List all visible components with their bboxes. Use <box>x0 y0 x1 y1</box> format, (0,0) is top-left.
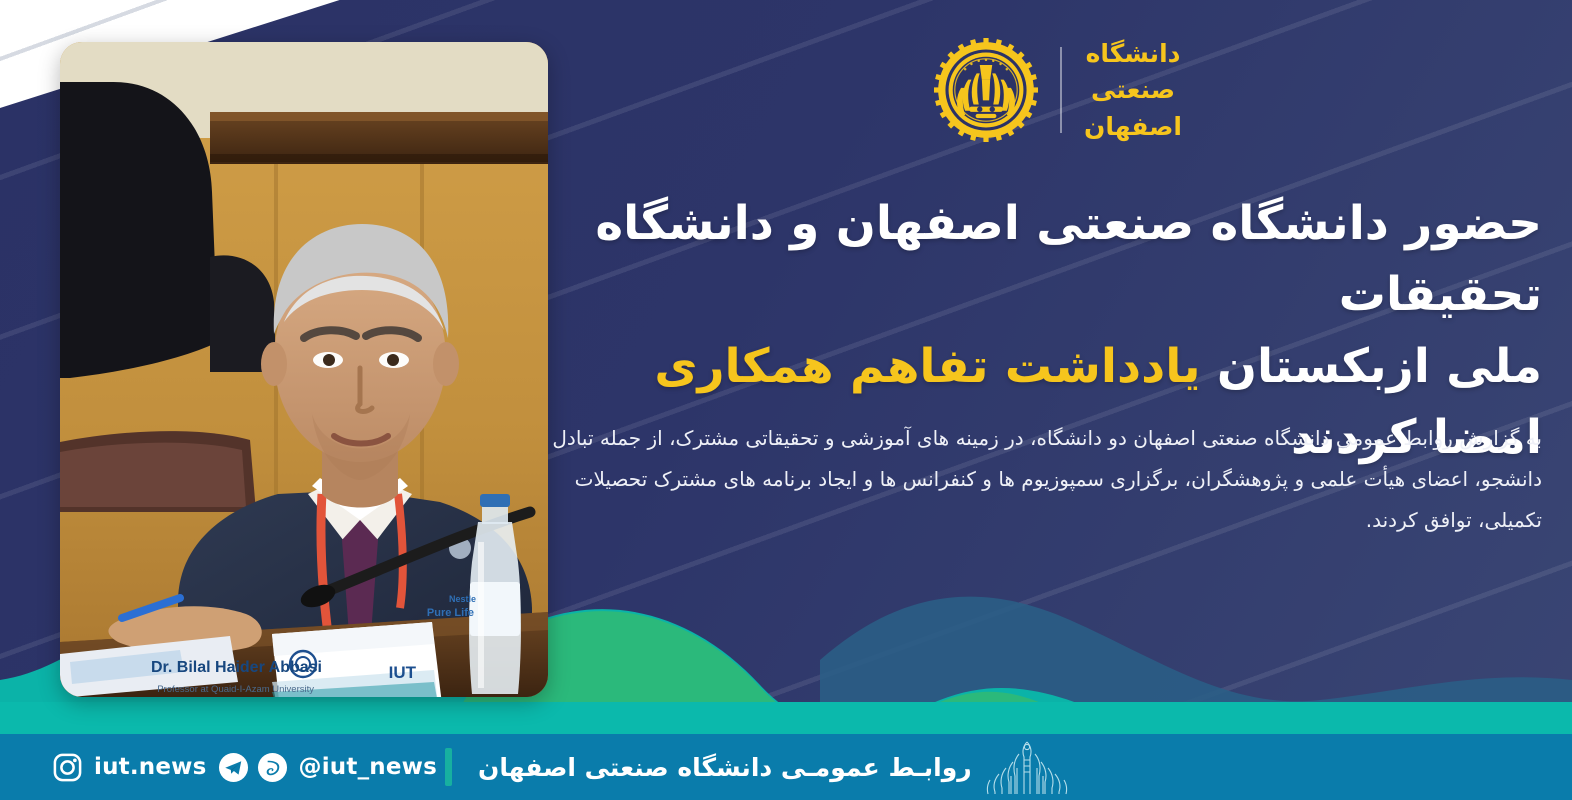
wordmark-line-3: اصفهان <box>1084 109 1182 145</box>
wordmark-line-2: صنعتی <box>1084 72 1182 108</box>
svg-text:Nestle: Nestle <box>449 594 476 604</box>
messenger-handle[interactable]: @iut_news <box>299 754 437 780</box>
svg-text:IUT: IUT <box>389 663 417 682</box>
instagram-icon[interactable] <box>52 752 83 783</box>
public-relations-label: روابـط عمومـی دانشگاه صنعتی اصفهان <box>478 753 972 782</box>
headline-line-2-before: ملی ازبکستان <box>1201 339 1542 394</box>
university-wordmark: دانشگاه صنعتی اصفهان <box>1084 36 1182 145</box>
footer-bar: iut.news @iut_news روابـط عمومـی دانشگاه… <box>0 734 1572 800</box>
photo-illustration: Dr. Bilal Haider Abbasi Professor at Qua… <box>60 42 548 697</box>
headline-line-1: حضور دانشگاه صنعتی اصفهان و دانشگاه تحقی… <box>595 196 1542 322</box>
news-banner: Dr. Bilal Haider Abbasi Professor at Qua… <box>0 0 1572 800</box>
logo-lockup: دانشگاه صنعتی اصفهان <box>934 36 1182 145</box>
svg-text:Professor at Quaid-I-Azam Univ: Professor at Quaid-I-Azam University <box>157 684 314 695</box>
wordmark-line-1: دانشگاه <box>1084 36 1182 72</box>
iut-gear-emblem-icon <box>934 38 1038 142</box>
instagram-handle[interactable]: iut.news <box>94 754 207 780</box>
logo-divider <box>1060 47 1062 133</box>
news-photo: Dr. Bilal Haider Abbasi Professor at Qua… <box>60 42 548 697</box>
bale-icon[interactable] <box>257 752 288 783</box>
telegram-icon[interactable] <box>218 752 249 783</box>
teal-accent-strip <box>0 702 1572 734</box>
social-links: iut.news @iut_news <box>52 752 437 783</box>
svg-text:Pure Life: Pure Life <box>427 607 474 619</box>
body-paragraph: به گزارش روابط عمومی دانشگاه صنعتی اصفها… <box>532 418 1542 541</box>
svg-text:Dr. Bilal Haider Abbasi: Dr. Bilal Haider Abbasi <box>151 659 322 676</box>
footer-separator <box>445 748 452 786</box>
isfahan-arch-motif-icon <box>986 738 1068 796</box>
headline-accent: یادداشت تفاهم همکاری <box>654 339 1200 394</box>
